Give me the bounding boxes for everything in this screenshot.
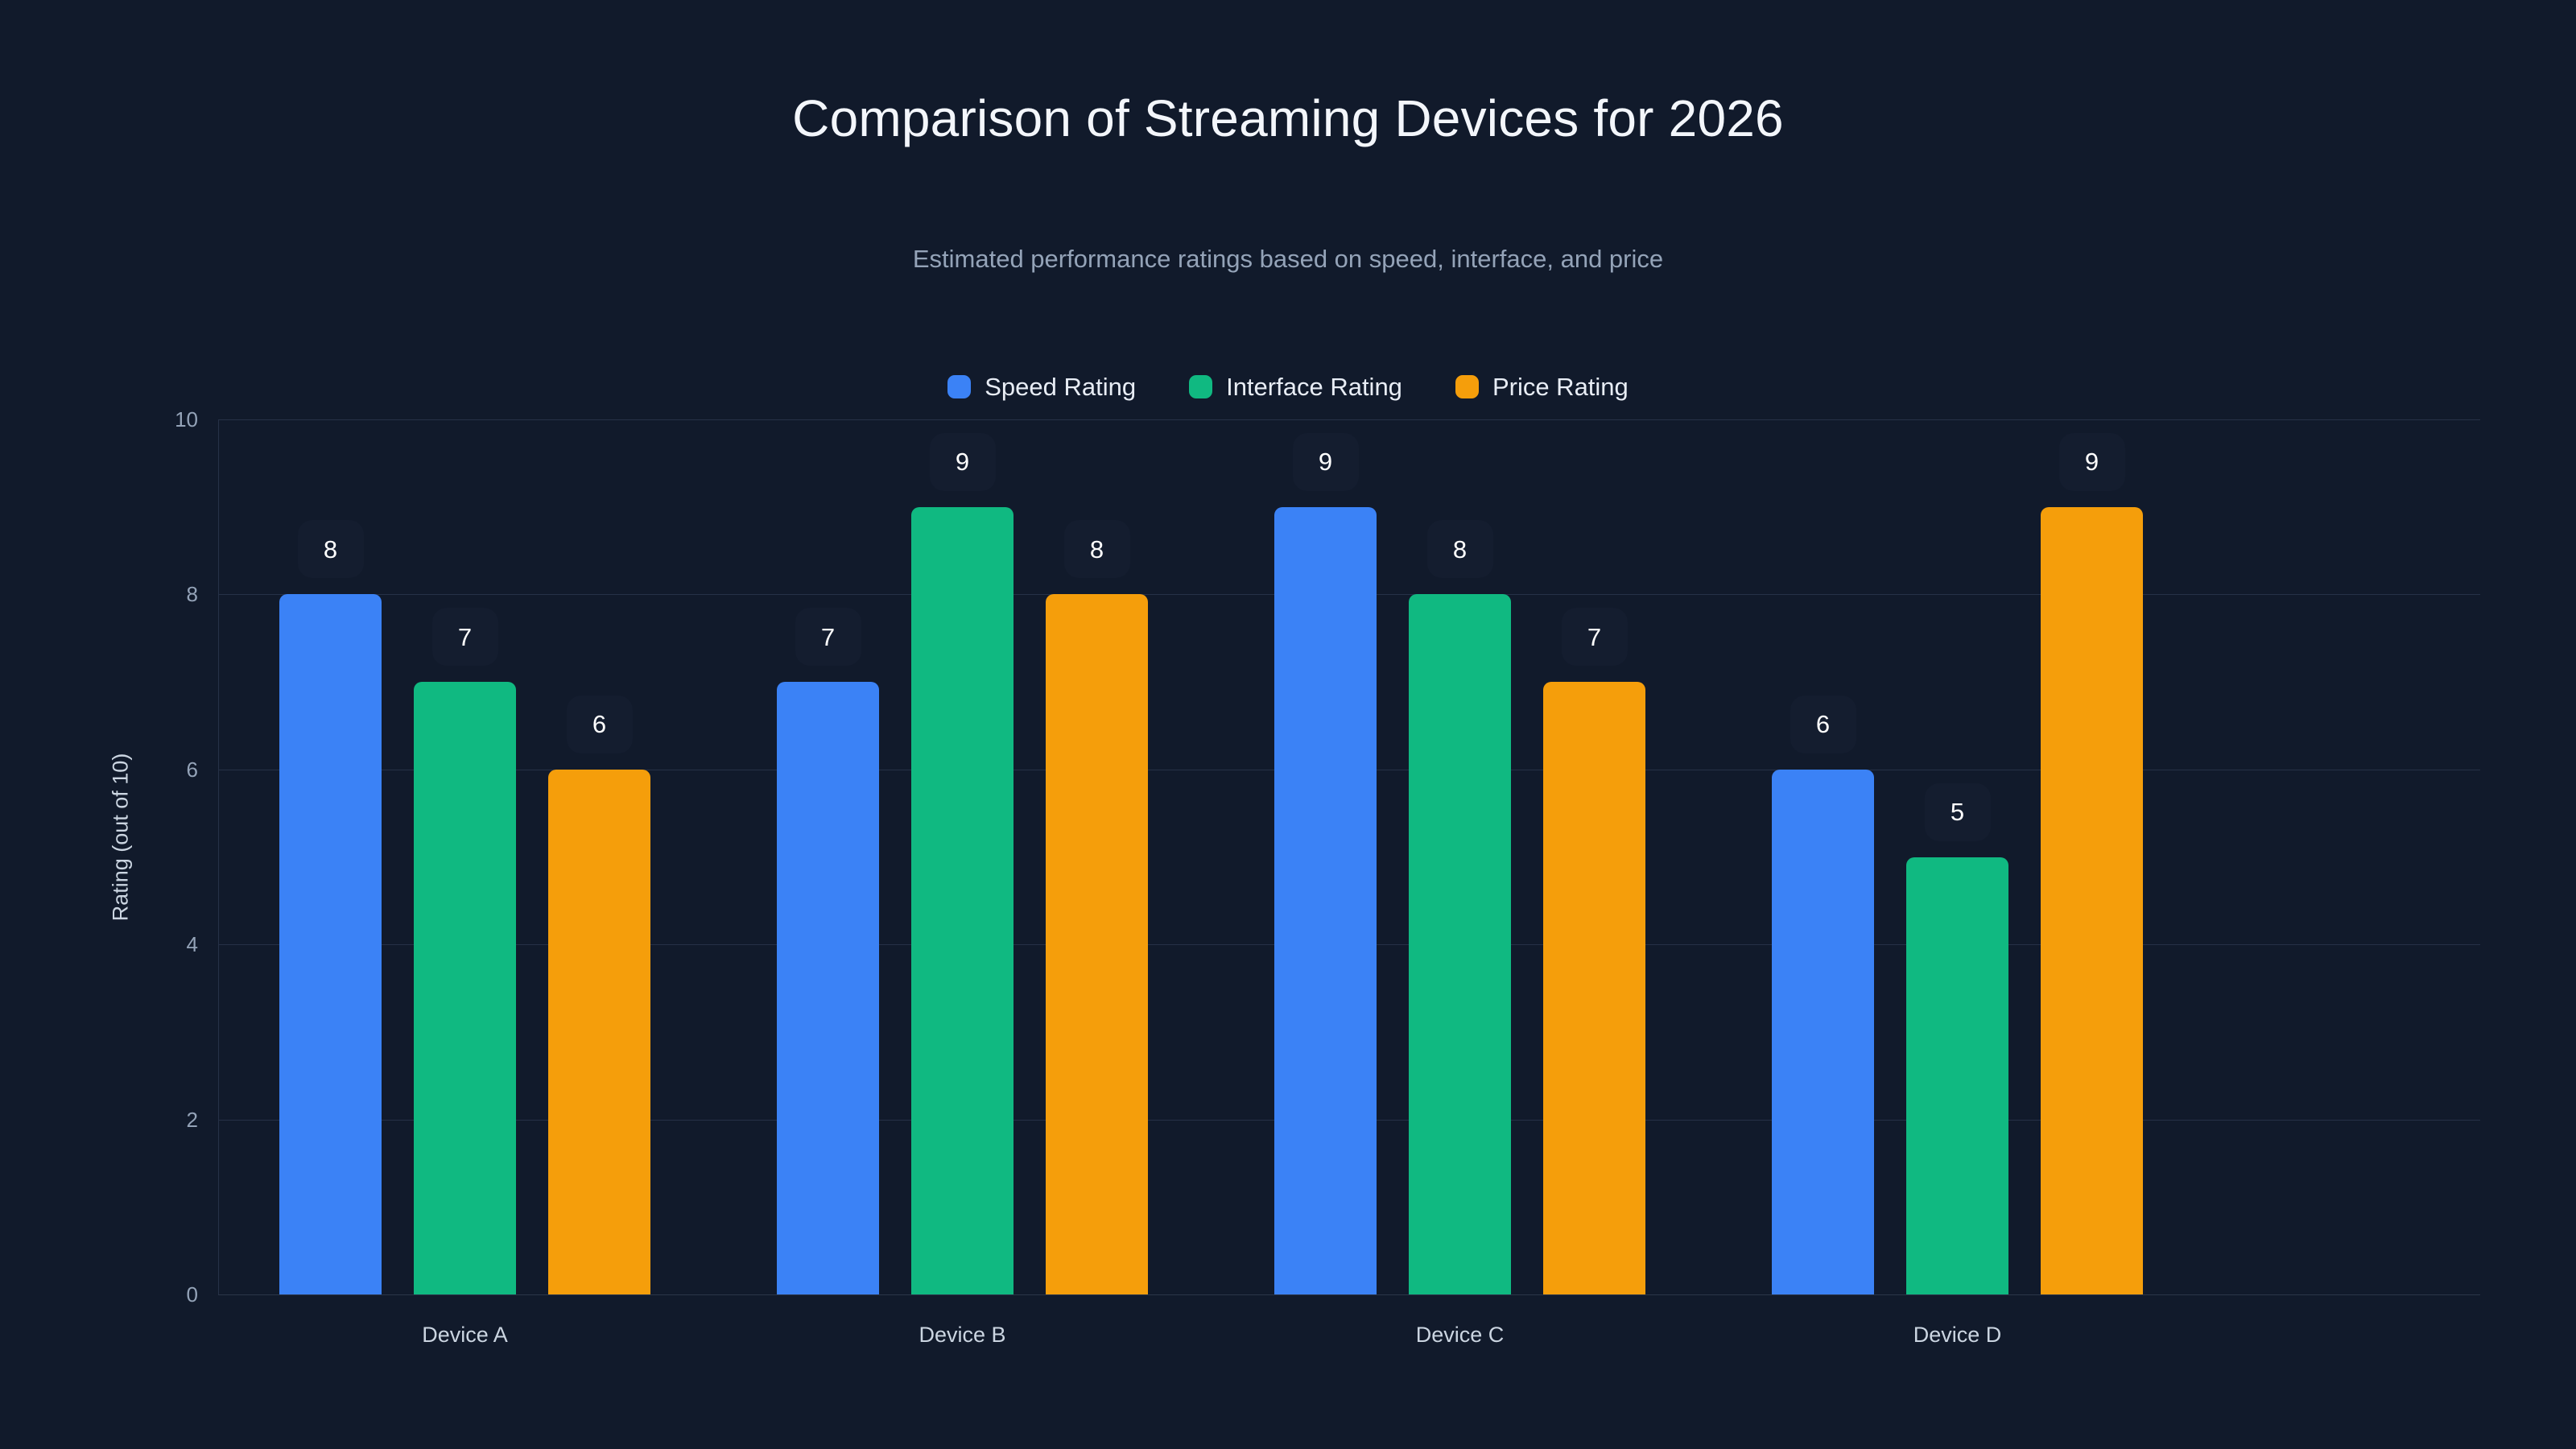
- legend-item-label: Price Rating: [1492, 374, 1629, 399]
- gridline: [218, 419, 2480, 420]
- legend-item[interactable]: Interface Rating: [1189, 372, 1402, 401]
- bar[interactable]: [279, 594, 382, 1294]
- bar-value-label: 6: [1790, 696, 1856, 753]
- rounded-square-swatch: [1455, 375, 1479, 398]
- legend-item-label: Speed Rating: [985, 374, 1136, 399]
- x-axis-tick-label: Device D: [1797, 1324, 2119, 1346]
- bar[interactable]: [1543, 682, 1645, 1294]
- bar-value-label: 8: [1064, 520, 1130, 578]
- y-axis-tick-label: 8: [93, 584, 198, 605]
- bar[interactable]: [1274, 507, 1377, 1294]
- y-axis-tick-label: 6: [93, 759, 198, 780]
- bar[interactable]: [1772, 770, 1874, 1294]
- legend-item-label: Interface Rating: [1226, 374, 1402, 399]
- y-axis-tick-label: 4: [93, 934, 198, 955]
- bar-value-label: 5: [1925, 783, 1991, 841]
- y-axis-tick-label: 2: [93, 1109, 198, 1130]
- bar[interactable]: [1409, 594, 1511, 1294]
- y-axis-tick-label: 10: [93, 409, 198, 430]
- bar[interactable]: [777, 682, 879, 1294]
- bar[interactable]: [911, 507, 1013, 1294]
- x-axis-tick-label: Device A: [304, 1324, 626, 1346]
- bar-value-label: 7: [432, 608, 498, 666]
- bar-value-label: 7: [795, 608, 861, 666]
- bar[interactable]: [548, 770, 650, 1294]
- bar[interactable]: [414, 682, 516, 1294]
- x-axis-tick-label: Device B: [802, 1324, 1124, 1346]
- rounded-square-swatch: [947, 375, 971, 398]
- rounded-square-swatch: [1189, 375, 1212, 398]
- gridline: [218, 1294, 2480, 1295]
- bar-value-label: 9: [930, 433, 996, 491]
- chart-title: Comparison of Streaming Devices for 2026: [0, 90, 2576, 147]
- chart-container: Comparison of Streaming Devices for 2026…: [0, 0, 2576, 1449]
- x-axis-tick-label: Device C: [1299, 1324, 1621, 1346]
- legend-item[interactable]: Speed Rating: [947, 372, 1136, 401]
- legend-item[interactable]: Price Rating: [1455, 372, 1629, 401]
- bar[interactable]: [2041, 507, 2143, 1294]
- bar-value-label: 9: [2059, 433, 2125, 491]
- chart-legend: Speed RatingInterface RatingPrice Rating: [0, 372, 2576, 401]
- plot-area: 876798987659: [218, 419, 2480, 1294]
- chart-subtitle: Estimated performance ratings based on s…: [0, 244, 2576, 274]
- bar-value-label: 8: [298, 520, 364, 578]
- bar[interactable]: [1046, 594, 1148, 1294]
- bar-value-label: 9: [1293, 433, 1359, 491]
- bar-value-label: 6: [567, 696, 633, 753]
- bar[interactable]: [1906, 857, 2008, 1295]
- y-axis-tick-label: 0: [93, 1284, 198, 1305]
- bar-value-label: 7: [1562, 608, 1628, 666]
- bar-value-label: 8: [1427, 520, 1493, 578]
